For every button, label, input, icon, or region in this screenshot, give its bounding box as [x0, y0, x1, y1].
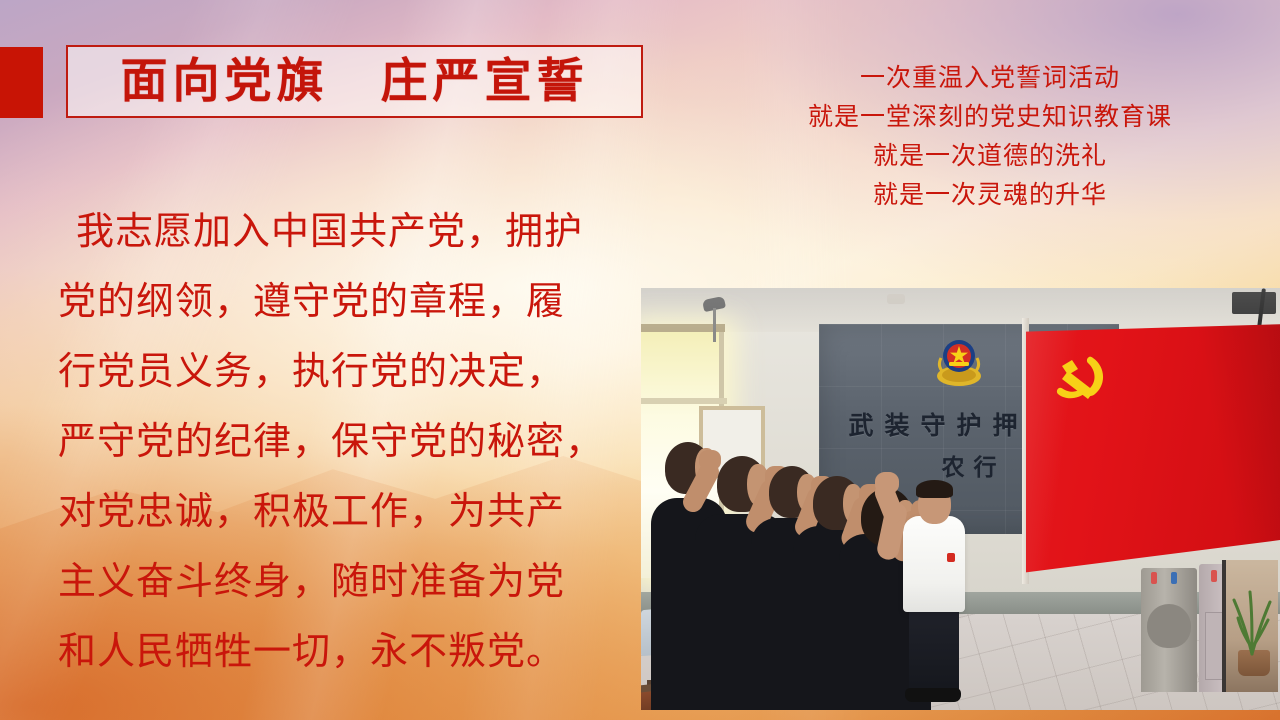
page-title: 面向党旗 庄严宣誓 [121, 58, 589, 105]
party-oath-text: 我志愿加入中国共产党，拥护 党的纲领，遵守党的章程，履 行党员义务，执行党的决定… [58, 196, 628, 686]
dispenser2-hot-tap [1211, 570, 1217, 582]
slogan-block: 一次重温入党誓词活动 就是一堂深刻的党史知识教育课 就是一次道德的洗礼 就是一次… [700, 58, 1280, 214]
hammer-sickle-icon [1049, 350, 1115, 412]
leader-shoes [905, 688, 961, 702]
party-badge [947, 553, 955, 562]
oath-line: 对党忠诚，积极工作，为共产 [58, 476, 628, 546]
window-mullion [641, 398, 727, 404]
red-accent-square [0, 47, 43, 118]
oath-line: 党的纲领，遵守党的章程，履 [58, 266, 628, 336]
leader-trousers [909, 608, 959, 694]
oath-line: 和人民牺牲一切，永不叛党。 [58, 616, 628, 686]
dispenser-hot-tap [1151, 572, 1157, 584]
slogan-line: 就是一堂深刻的党史知识教育课 [700, 97, 1280, 136]
oath-line: 我志愿加入中国共产党，拥护 [58, 196, 628, 266]
leader-shirt [903, 516, 965, 612]
dispenser-cold-tap [1171, 572, 1177, 584]
slogan-line: 就是一次道德的洗礼 [700, 136, 1280, 175]
oath-line: 行党员义务，执行党的决定， [58, 336, 628, 406]
leader-raised-fist [875, 472, 899, 494]
potted-plant-icon [1230, 578, 1274, 656]
slogan-line: 一次重温入党誓词活动 [700, 58, 1280, 97]
wall-unit [1232, 292, 1276, 314]
slogan-line: 就是一次灵魂的升华 [700, 175, 1280, 214]
ceremony-photo: 武装守护押运中 农行 [641, 288, 1280, 710]
police-emblem-icon [935, 336, 983, 388]
leader-hair [916, 480, 953, 498]
camera-mount [713, 308, 716, 342]
slide-title-box: 面向党旗 庄严宣誓 [66, 45, 643, 118]
smoke-detector [887, 294, 905, 304]
presentation-slide: 面向党旗 庄严宣誓 一次重温入党誓词活动 就是一堂深刻的党史知识教育课 就是一次… [0, 0, 1280, 720]
oath-line: 主义奋斗终身，随时准备为党 [58, 546, 628, 616]
dispenser-basin [1147, 604, 1191, 648]
oath-line: 严守党的纪律，保守党的秘密， [58, 406, 628, 476]
